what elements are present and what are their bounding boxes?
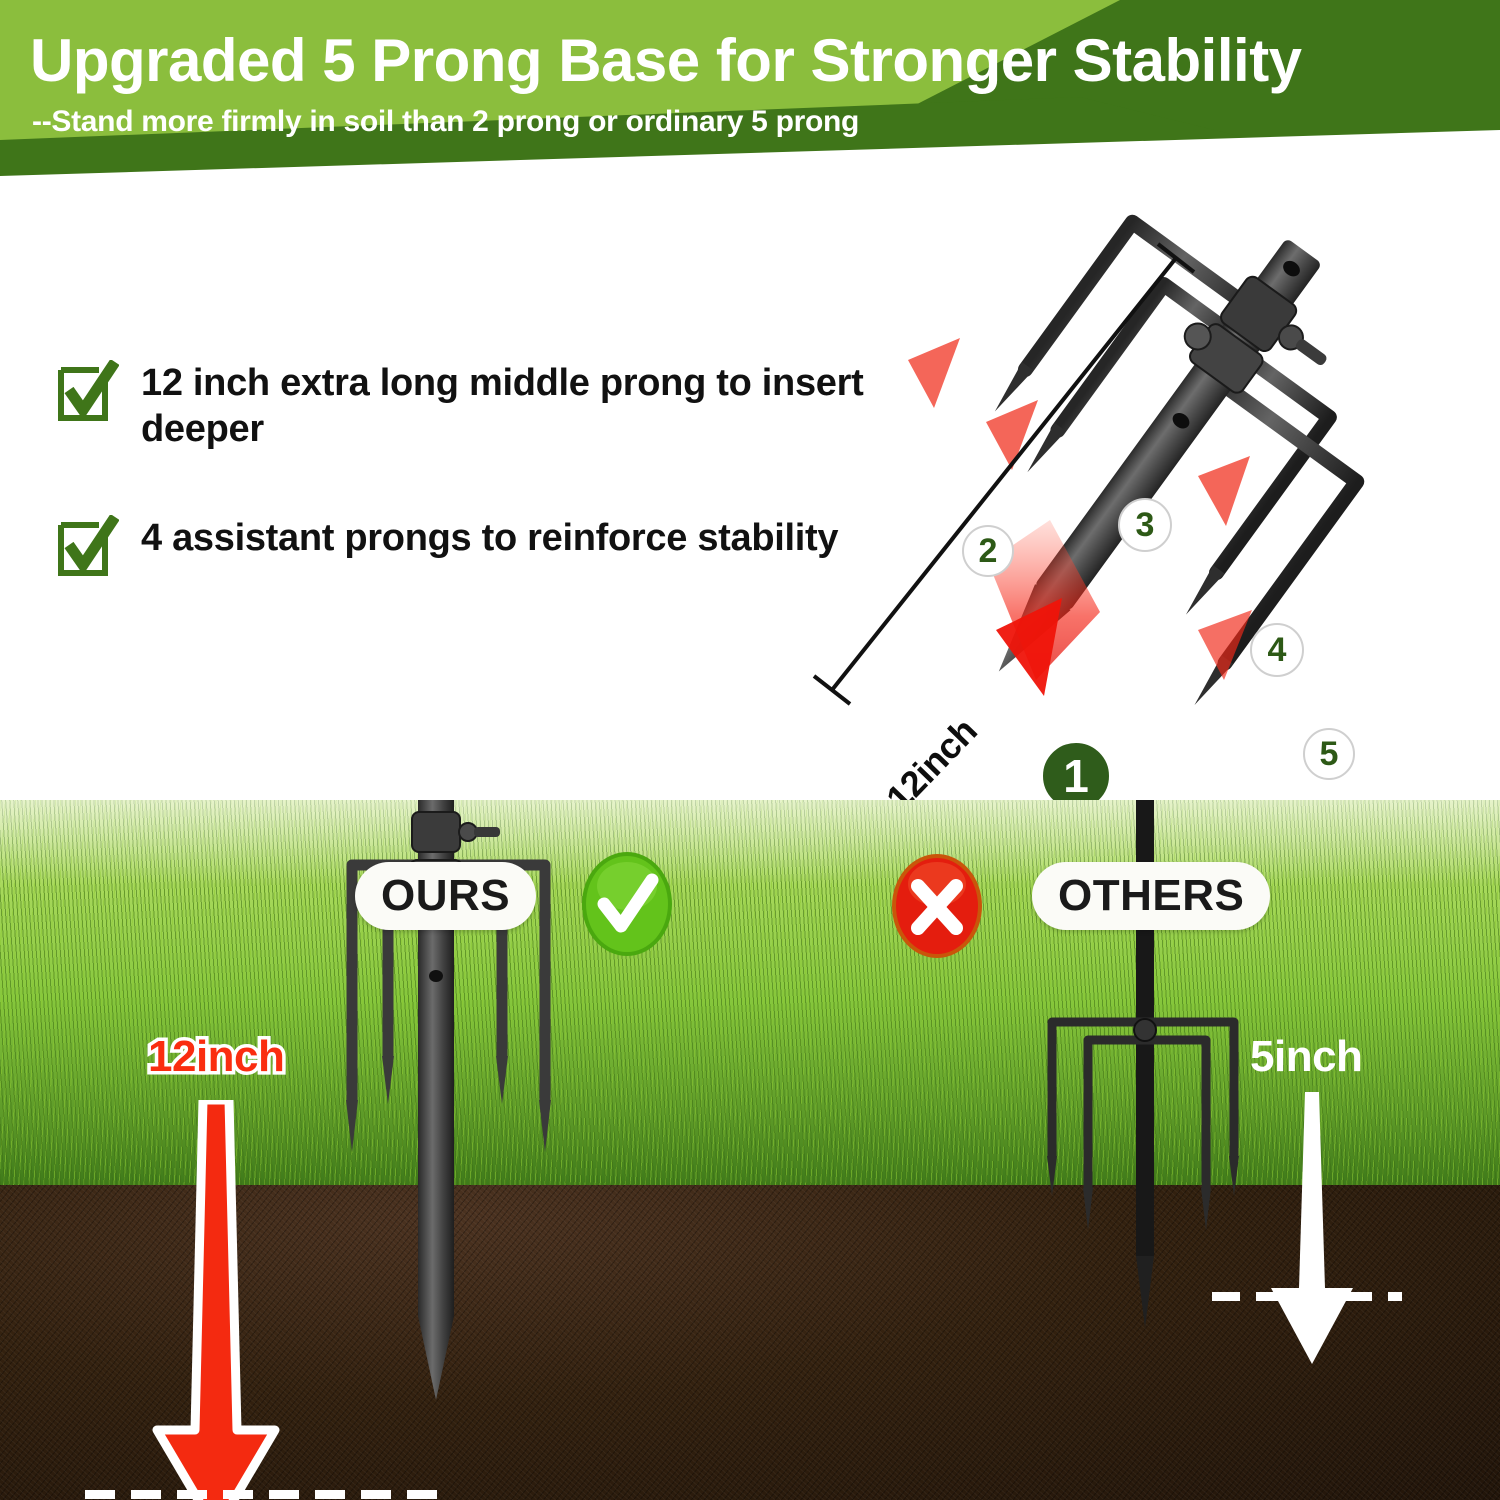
ours-shaft-hole: [429, 970, 443, 982]
feature-item: 4 assistant prongs to reinforce stabilit…: [55, 515, 838, 579]
others-hub-icon: [1134, 1019, 1156, 1041]
feature-item: 12 inch extra long middle prong to inser…: [55, 360, 901, 453]
ours-center-spike-tip: [418, 1316, 454, 1400]
callout-badge-4: 4: [1250, 623, 1304, 677]
thumb-screw-stem: [1294, 337, 1329, 367]
red-down-arrow-icon: [125, 1100, 315, 1500]
feature-text: 4 assistant prongs to reinforce stabilit…: [141, 515, 838, 561]
product-stake-illustration: [800, 160, 1500, 780]
others-center-tip: [1136, 1256, 1154, 1328]
red-arrow-icon: [908, 338, 960, 408]
depth-label-5inch: 5inch: [1250, 1032, 1362, 1082]
check-box-icon: [55, 360, 119, 424]
white-down-arrow-icon: [1255, 1092, 1375, 1382]
ours-thumb-screw-stem: [474, 827, 500, 837]
others-depth-dashed-line: [1212, 1292, 1402, 1301]
page-subtitle: --Stand more firmly in soil than 2 prong…: [32, 105, 859, 139]
ours-upper-coupler: [412, 812, 460, 852]
depth-label-12inch: 12inch: [148, 1032, 284, 1082]
red-arrow-icon: [986, 400, 1038, 470]
red-x-circle-icon: [890, 852, 984, 960]
red-arrow-icon: [1198, 456, 1250, 526]
label-others: OTHERS: [1032, 862, 1270, 930]
label-ours: OURS: [355, 862, 536, 930]
features-and-product-section: 12 inch extra long middle prong to inser…: [0, 200, 1500, 800]
infographic-page: Upgraded 5 Prong Base for Stronger Stabi…: [0, 0, 1500, 1500]
stake-assembly: [867, 160, 1454, 780]
check-box-icon: [55, 515, 119, 579]
callout-badge-5: 5: [1303, 728, 1355, 780]
page-title: Upgraded 5 Prong Base for Stronger Stabi…: [30, 26, 1302, 95]
feature-text: 12 inch extra long middle prong to inser…: [141, 360, 901, 453]
ours-depth-dashed-line: [85, 1490, 450, 1499]
callout-badge-3: 3: [1118, 498, 1172, 552]
callout-badge-2: 2: [962, 525, 1014, 577]
green-check-circle-icon: [580, 850, 674, 958]
comparison-section: OURS OTHERS: [0, 800, 1500, 1500]
